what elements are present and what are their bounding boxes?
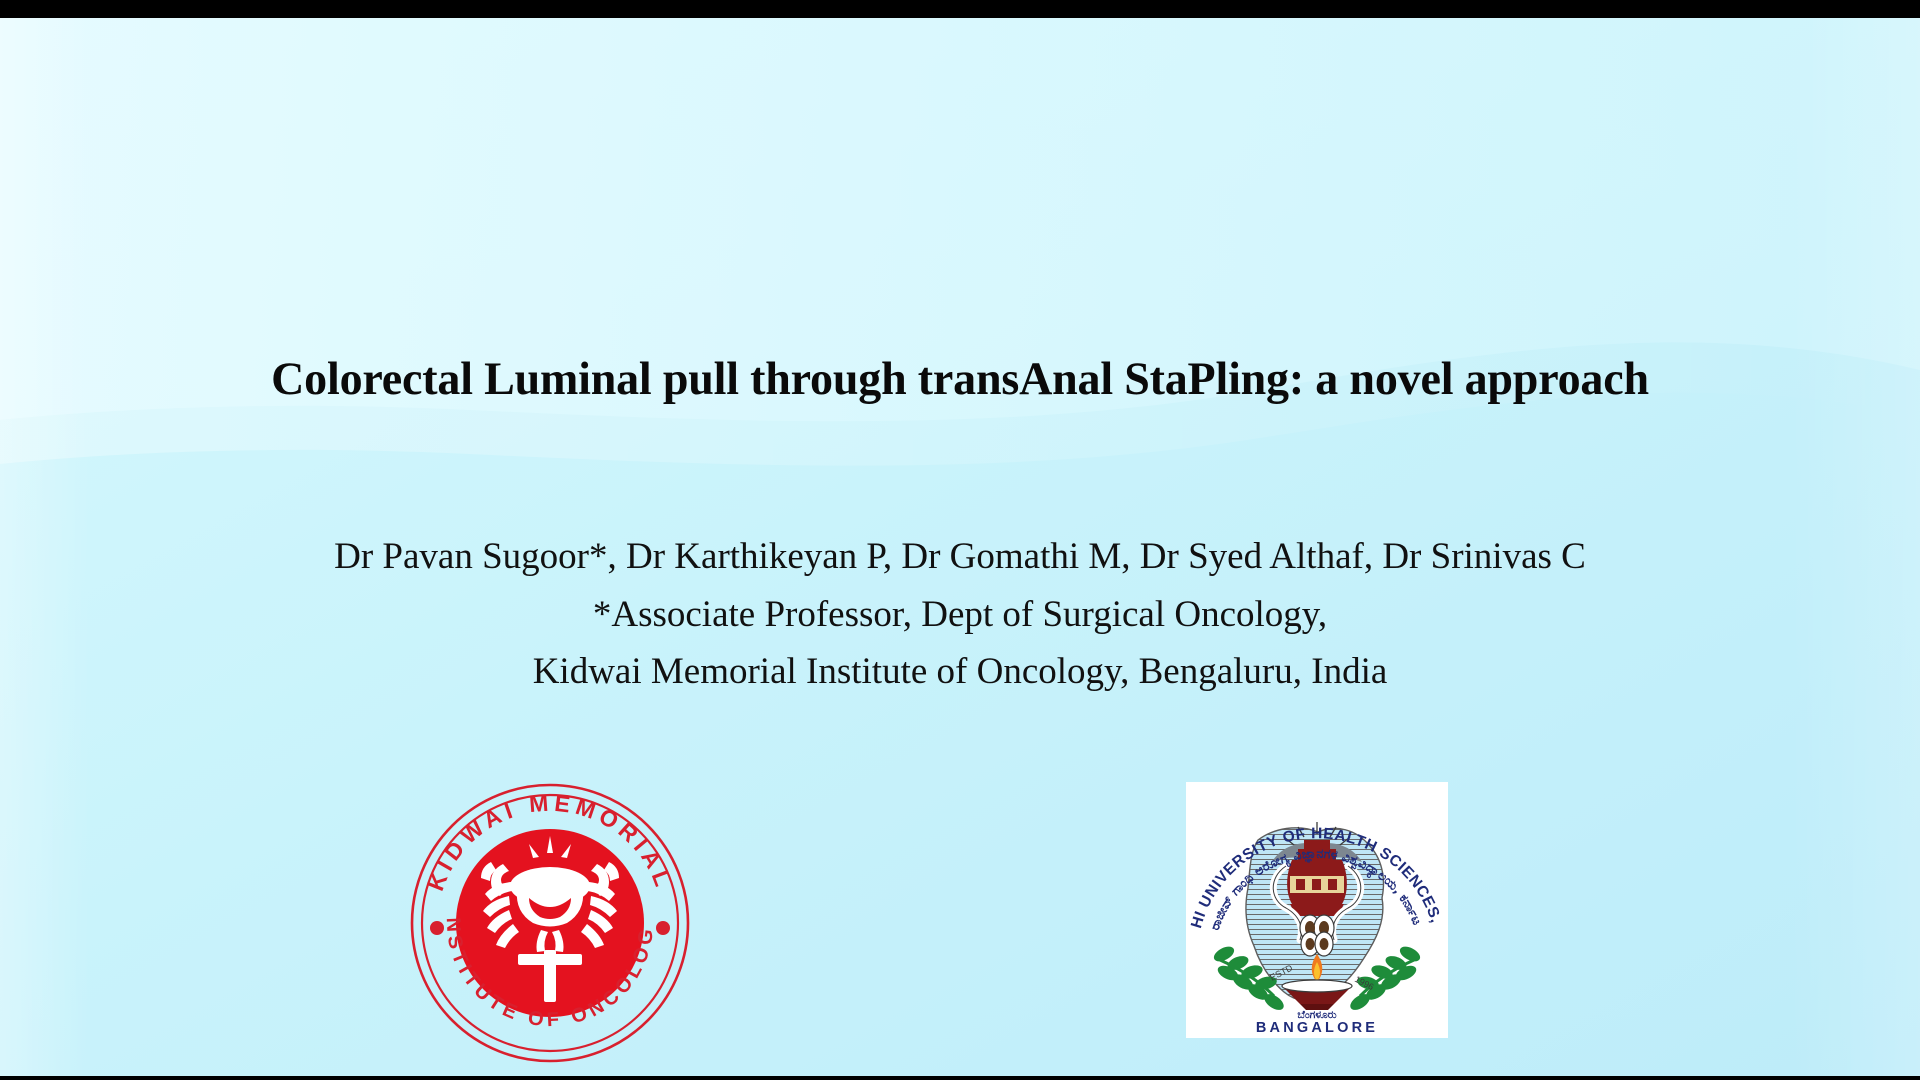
affiliation-line-2: Kidwai Memorial Institute of Oncology, B… [0, 643, 1920, 701]
kidwai-dot-right [656, 921, 670, 935]
kidwai-memorial-logo: KIDWAI MEMORIAL INSTITUTE OF ONCOLOGY [405, 778, 695, 1068]
slide-canvas: Colorectal Luminal pull through transAna… [0, 18, 1920, 1076]
author-affiliation-block: Dr Pavan Sugoor*, Dr Karthikeyan P, Dr G… [0, 528, 1920, 701]
rguhs-city-english: BANGALORE [1256, 1020, 1378, 1036]
letterbox-bottom [0, 1076, 1920, 1080]
page-title: Colorectal Luminal pull through transAna… [20, 354, 1900, 406]
title-block: Colorectal Luminal pull through transAna… [0, 354, 1920, 406]
letterbox-top [0, 0, 1920, 18]
slide-root: Colorectal Luminal pull through transAna… [0, 0, 1920, 1080]
logo-row: KIDWAI MEMORIAL INSTITUTE OF ONCOLOGY [0, 768, 1920, 1058]
rguhs-logo: ESTD 1996 RAJIV GANDHI UNIVERSITY OF HEA… [1186, 782, 1448, 1038]
author-list: Dr Pavan Sugoor*, Dr Karthikeyan P, Dr G… [0, 528, 1920, 586]
kidwai-dot-left [430, 921, 444, 935]
affiliation-line-1: *Associate Professor, Dept of Surgical O… [0, 586, 1920, 644]
